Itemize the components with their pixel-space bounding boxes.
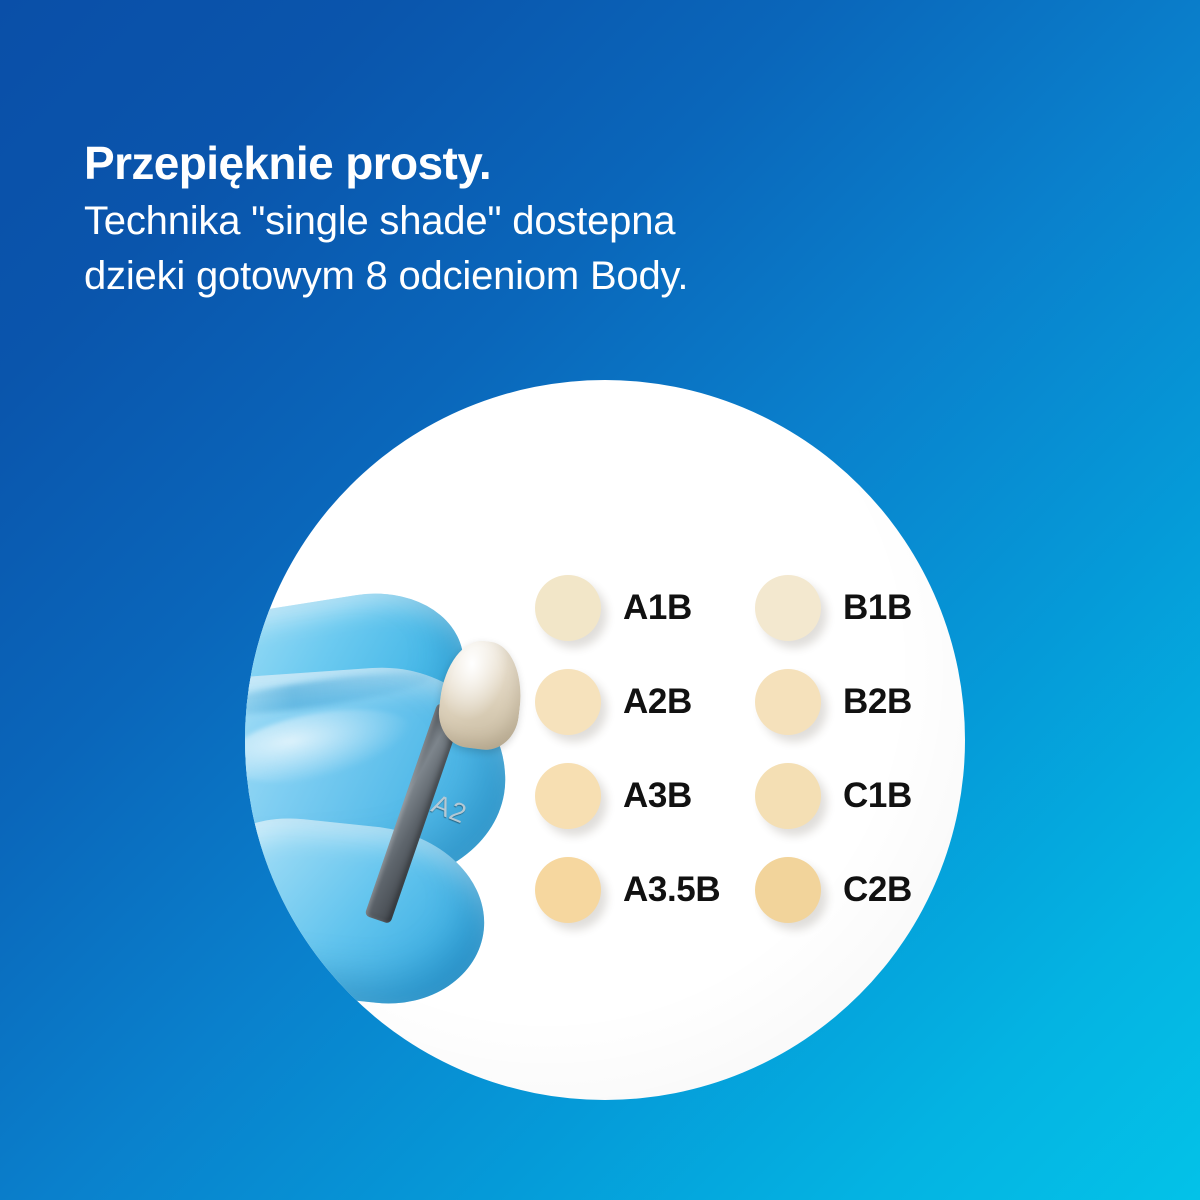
shade-dot xyxy=(535,575,601,641)
shade-label: C1B xyxy=(843,772,912,820)
shade-label: C2B xyxy=(843,866,912,914)
shade-label: A3B xyxy=(623,772,692,820)
shade-label: B2B xyxy=(843,678,912,726)
list-item[interactable]: A2B xyxy=(535,669,720,763)
list-item[interactable]: C1B xyxy=(755,763,912,857)
shade-label: A3.5B xyxy=(623,866,720,914)
shade-dot xyxy=(755,763,821,829)
list-item[interactable]: C2B xyxy=(755,857,912,951)
shade-dot xyxy=(535,669,601,735)
headline-subtitle: Technika "single shade" dostepna dzieki … xyxy=(84,194,984,303)
page-title: Przepięknie prosty. xyxy=(84,136,984,190)
shade-dot xyxy=(535,857,601,923)
shade-dot xyxy=(755,575,821,641)
swatch-column-left: A1B A2B A3B A3.5B xyxy=(535,575,720,951)
shade-label: A2B xyxy=(623,678,692,726)
list-item[interactable]: A3.5B xyxy=(535,857,720,951)
shade-dot xyxy=(755,669,821,735)
list-item[interactable]: B2B xyxy=(755,669,912,763)
headline-block: Przepięknie prosty. Technika "single sha… xyxy=(84,136,984,303)
swatch-column-right: B1B B2B C1B C2B xyxy=(755,575,912,951)
shade-dot xyxy=(755,857,821,923)
shade-label: A1B xyxy=(623,584,692,632)
shade-label: B1B xyxy=(843,584,912,632)
shade-dot xyxy=(535,763,601,829)
list-item[interactable]: A3B xyxy=(535,763,720,857)
list-item[interactable]: B1B xyxy=(755,575,912,669)
list-item[interactable]: A1B xyxy=(535,575,720,669)
subtitle-line-1: Technika "single shade" dostepna xyxy=(84,194,984,248)
subtitle-line-2: dzieki gotowym 8 odcieniom Body. xyxy=(84,249,984,303)
promo-graphic: Przepięknie prosty. Technika "single sha… xyxy=(0,0,1200,1200)
